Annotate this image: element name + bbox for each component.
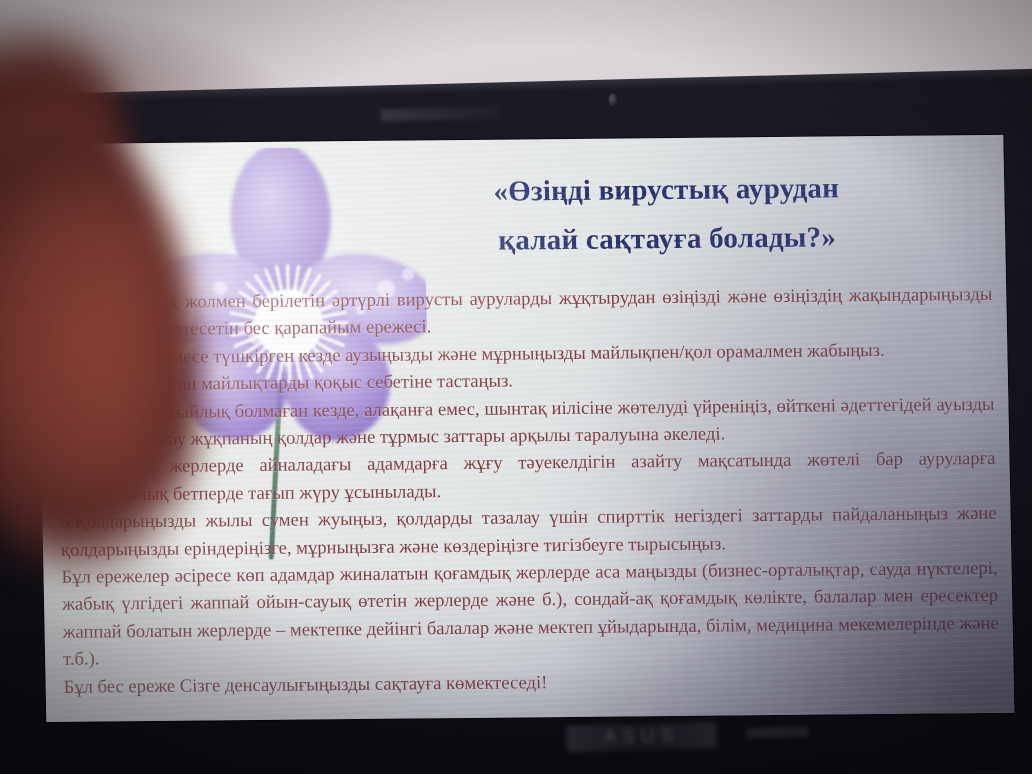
slide-title: «Өзіңді вирустық аурудан қалай сақтауға … (366, 163, 968, 267)
webcam-icon (608, 93, 617, 106)
slide-paragraph-rule-5: 5.Қолдарыңызды жылы сумен жуыңыз, қолдар… (60, 500, 997, 564)
photograph-of-laptop-screen: ASUS (0, 0, 1032, 774)
slide-title-line-2: қалай сақтауға болады?» (367, 212, 968, 267)
top-bezel-marking (380, 106, 500, 121)
bottom-bezel-marking (746, 727, 808, 739)
slide-paragraph-note: Бұл ережелер әсіресе көп адамдар жиналат… (61, 555, 999, 674)
brand-logo: ASUS (566, 722, 717, 752)
slide-paragraph-rule-4: 4.Қоғамдық жерлерде айналадағы адамдарға… (59, 445, 996, 509)
slide-title-line-1: «Өзіңді вирустық аурудан (366, 163, 967, 218)
